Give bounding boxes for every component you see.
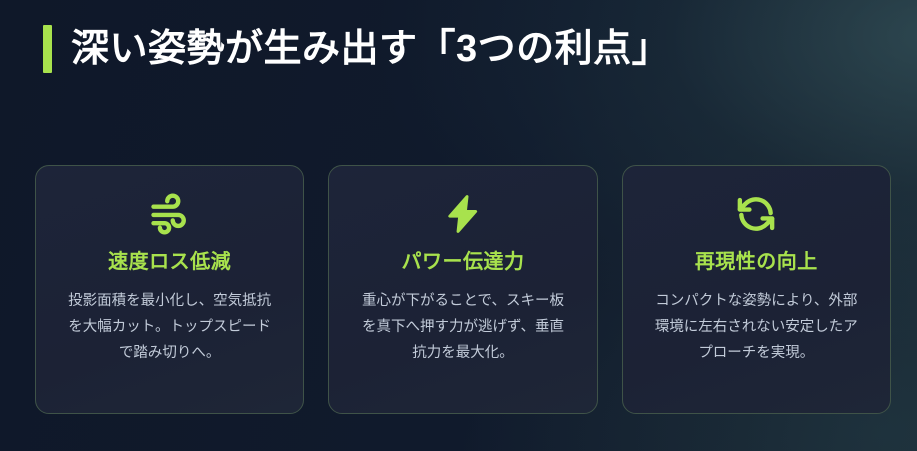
benefit-card-2[interactable]: パワー伝達力 重心が下がることで、スキー板を真下へ押す力が逃げず、垂直抗力を最大…	[328, 165, 597, 414]
refresh-icon	[734, 192, 778, 236]
benefit-card-body: コンパクトな姿勢により、外部環境に左右されない安定したアプローチを実現。	[649, 288, 863, 366]
benefit-card-body: 投影面積を最小化し、空気抵抗を大幅カット。トップスピードで踏み切りへ。	[63, 288, 277, 366]
slide-canvas: 深い姿勢が生み出す「3つの利点」 速度ロス低減 投影面積を最小化し、空気抵抗を大…	[0, 0, 917, 451]
benefit-card-3[interactable]: 再現性の向上 コンパクトな姿勢により、外部環境に左右されない安定したアプローチを…	[622, 165, 891, 414]
bolt-icon	[441, 192, 485, 236]
page-title: 深い姿勢が生み出す「3つの利点」	[71, 30, 670, 68]
benefit-card-title: 再現性の向上	[695, 250, 818, 274]
benefit-card-body: 重心が下がることで、スキー板を真下へ押す力が逃げず、垂直抗力を最大化。	[356, 288, 570, 366]
benefit-card-1[interactable]: 速度ロス低減 投影面積を最小化し、空気抵抗を大幅カット。トップスピードで踏み切り…	[35, 165, 304, 414]
benefit-card-list: 速度ロス低減 投影面積を最小化し、空気抵抗を大幅カット。トップスピードで踏み切り…	[35, 165, 891, 414]
page-header: 深い姿勢が生み出す「3つの利点」	[43, 24, 670, 74]
benefit-card-title: パワー伝達力	[401, 250, 524, 274]
wind-icon	[148, 192, 192, 236]
accent-bar	[43, 25, 52, 73]
benefit-card-title: 速度ロス低減	[108, 250, 231, 274]
